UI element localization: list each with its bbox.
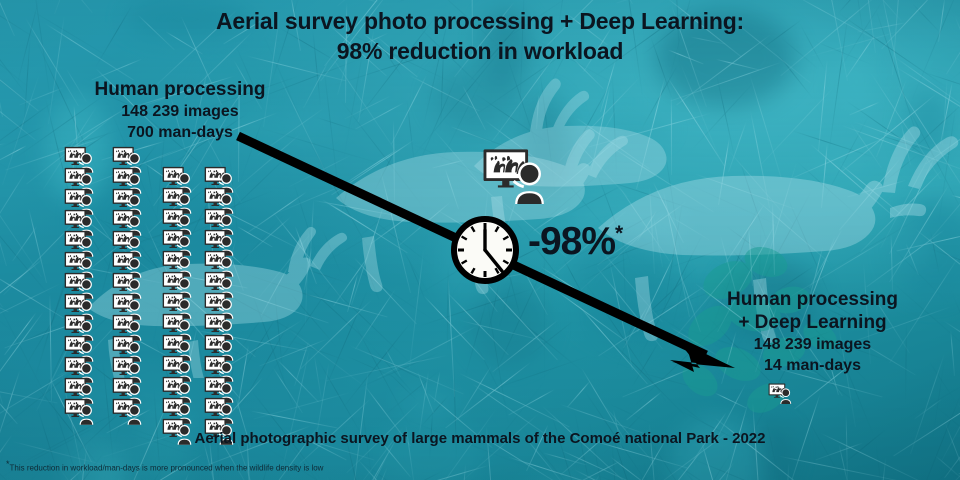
clock-icon: [450, 215, 520, 285]
monitor-person-icon: [482, 148, 554, 204]
worker-icon-column-2: [112, 146, 152, 425]
left-images-count: 148 239 images: [60, 101, 300, 122]
reduction-value: -98%: [528, 220, 615, 263]
reduction-footnote-marker: *: [615, 222, 622, 245]
page-title: Aerial survey photo processing + Deep Le…: [0, 6, 960, 66]
worker-icon-column-1: [64, 146, 104, 425]
left-heading: Human processing: [60, 78, 300, 101]
worker-icon-column-3: [162, 166, 202, 445]
right-images-count: 148 239 images: [680, 334, 945, 355]
reduction-label: -98%*: [528, 222, 622, 261]
right-heading-line-1: Human processing: [680, 288, 945, 311]
title-line-1: Aerial survey photo processing + Deep Le…: [216, 8, 744, 34]
monitor-person-icon: [768, 383, 795, 404]
worker-icon-column-4: [204, 166, 244, 445]
monitor-person-icon: [112, 398, 146, 425]
footnote: *This reduction in workload/man-days is …: [6, 459, 323, 474]
infographic-canvas: Aerial survey photo processing + Deep Le…: [0, 0, 960, 480]
right-mandays-count: 14 man-days: [680, 355, 945, 376]
left-mandays-count: 700 man-days: [60, 122, 300, 143]
title-line-2: 98% reduction in workload: [0, 36, 960, 66]
deep-learning-stats: Human processing + Deep Learning 148 239…: [680, 288, 945, 376]
human-processing-stats: Human processing 148 239 images 700 man-…: [60, 78, 300, 143]
monitor-person-icon: [64, 398, 98, 425]
right-heading-line-2: + Deep Learning: [680, 311, 945, 334]
survey-caption: Aerial photographic survey of large mamm…: [0, 430, 960, 447]
footnote-text: This reduction in workload/man-days is m…: [10, 464, 324, 473]
